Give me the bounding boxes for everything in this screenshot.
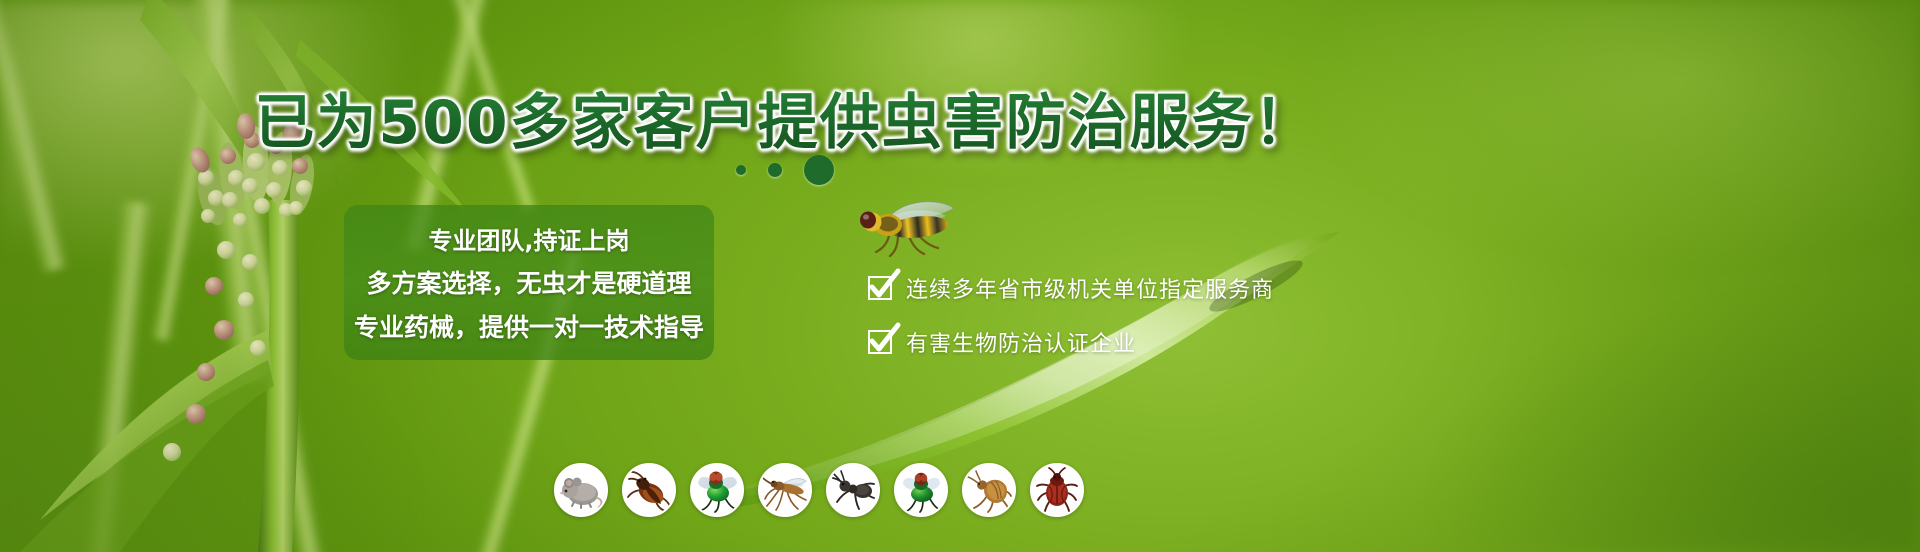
medium-dot xyxy=(768,163,782,177)
pest-types-row xyxy=(554,463,1084,517)
decorative-dots xyxy=(0,155,1570,185)
checklist-item: 有害生物防治认证企业 xyxy=(868,326,1274,358)
small-dot xyxy=(736,165,746,175)
large-dot xyxy=(804,155,834,185)
selling-point-line: 多方案选择，无虫才是硬道理 xyxy=(366,264,691,300)
blowfly-icon[interactable] xyxy=(690,463,744,517)
selling-points-text: 专业团队,持证上岗 多方案选择，无虫才是硬道理 专业药械，提供一对一技术指导 xyxy=(344,205,714,360)
checklist-item-label: 有害生物防治认证企业 xyxy=(906,326,1136,358)
checkbox-checked-icon xyxy=(868,330,892,354)
housefly-icon[interactable] xyxy=(894,463,948,517)
checklist-item-label: 连续多年省市级机关单位指定服务商 xyxy=(906,272,1274,304)
page-title: 已为500多家客户提供虫害防治服务！ xyxy=(0,74,1570,161)
flea-icon[interactable] xyxy=(962,463,1016,517)
cockroach-icon[interactable] xyxy=(622,463,676,517)
bedbug-icon[interactable] xyxy=(1030,463,1084,517)
selling-point-line: 专业药械，提供一对一技术指导 xyxy=(354,308,704,344)
promo-banner: 已为500多家客户提供虫害防治服务！ 专业团队,持证上岗 多方案选择，无虫才是硬… xyxy=(0,0,1920,552)
ant-icon[interactable] xyxy=(826,463,880,517)
rodent-icon[interactable] xyxy=(554,463,608,517)
selling-point-line: 专业团队,持证上岗 xyxy=(428,221,629,256)
checkbox-checked-icon xyxy=(868,276,892,300)
credentials-checklist: 连续多年省市级机关单位指定服务商 有害生物防治认证企业 xyxy=(868,272,1274,358)
checklist-item: 连续多年省市级机关单位指定服务商 xyxy=(868,272,1274,304)
mosquito-icon[interactable] xyxy=(758,463,812,517)
